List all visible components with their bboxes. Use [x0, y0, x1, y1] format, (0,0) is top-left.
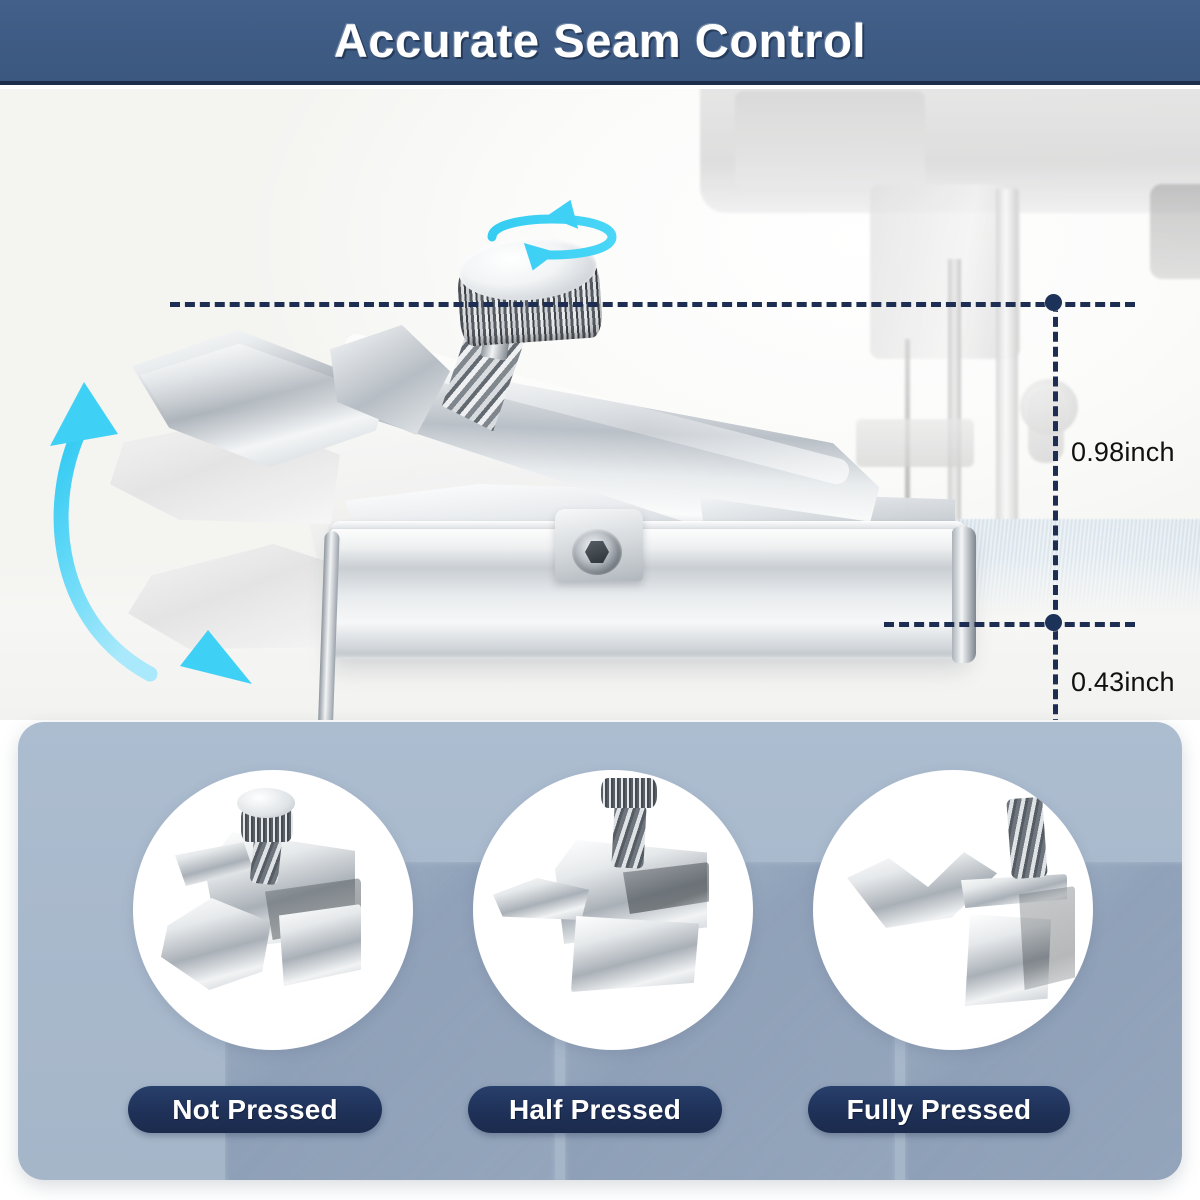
mini1-thumbscrew-cap: [237, 788, 295, 818]
state-item-fully-pressed[interactable]: [813, 770, 1093, 1050]
page-title: Accurate Seam Control: [334, 13, 866, 68]
infographic-page: Accurate Seam Control: [0, 0, 1200, 1200]
mini3-shadowface: [1019, 886, 1075, 990]
state-label-text: Fully Pressed: [847, 1094, 1032, 1126]
hero-product-photo: 0.98inch 0.43inch: [0, 89, 1200, 720]
seam-guide-fully-pressed: [813, 770, 1093, 1050]
guide-right-edge: [952, 527, 976, 663]
seam-guide-half-pressed: [473, 770, 753, 1050]
state-item-half-pressed[interactable]: [473, 770, 753, 1050]
mini2-knurling: [601, 778, 657, 808]
mini2-spring: [611, 803, 646, 869]
state-label-half-pressed[interactable]: Half Pressed: [468, 1086, 722, 1133]
state-label-text: Not Pressed: [172, 1094, 338, 1126]
state-label-not-pressed[interactable]: Not Pressed: [128, 1086, 382, 1133]
state-item-not-pressed[interactable]: [133, 770, 413, 1050]
rotation-arrow: [462, 193, 642, 289]
mini3-spring: [1006, 797, 1047, 879]
header-banner: Accurate Seam Control: [0, 0, 1200, 85]
guide-main-body: [330, 529, 970, 659]
guide-left-leg: [317, 531, 339, 720]
mini2-base: [571, 916, 699, 992]
seam-guide-not-pressed: [133, 770, 413, 1050]
state-label-fully-pressed[interactable]: Fully Pressed: [808, 1086, 1070, 1133]
state-label-text: Half Pressed: [509, 1094, 681, 1126]
mini1-base: [279, 904, 361, 986]
pivot-hex-screw: [572, 529, 622, 575]
swing-range-arrow: [40, 374, 310, 714]
